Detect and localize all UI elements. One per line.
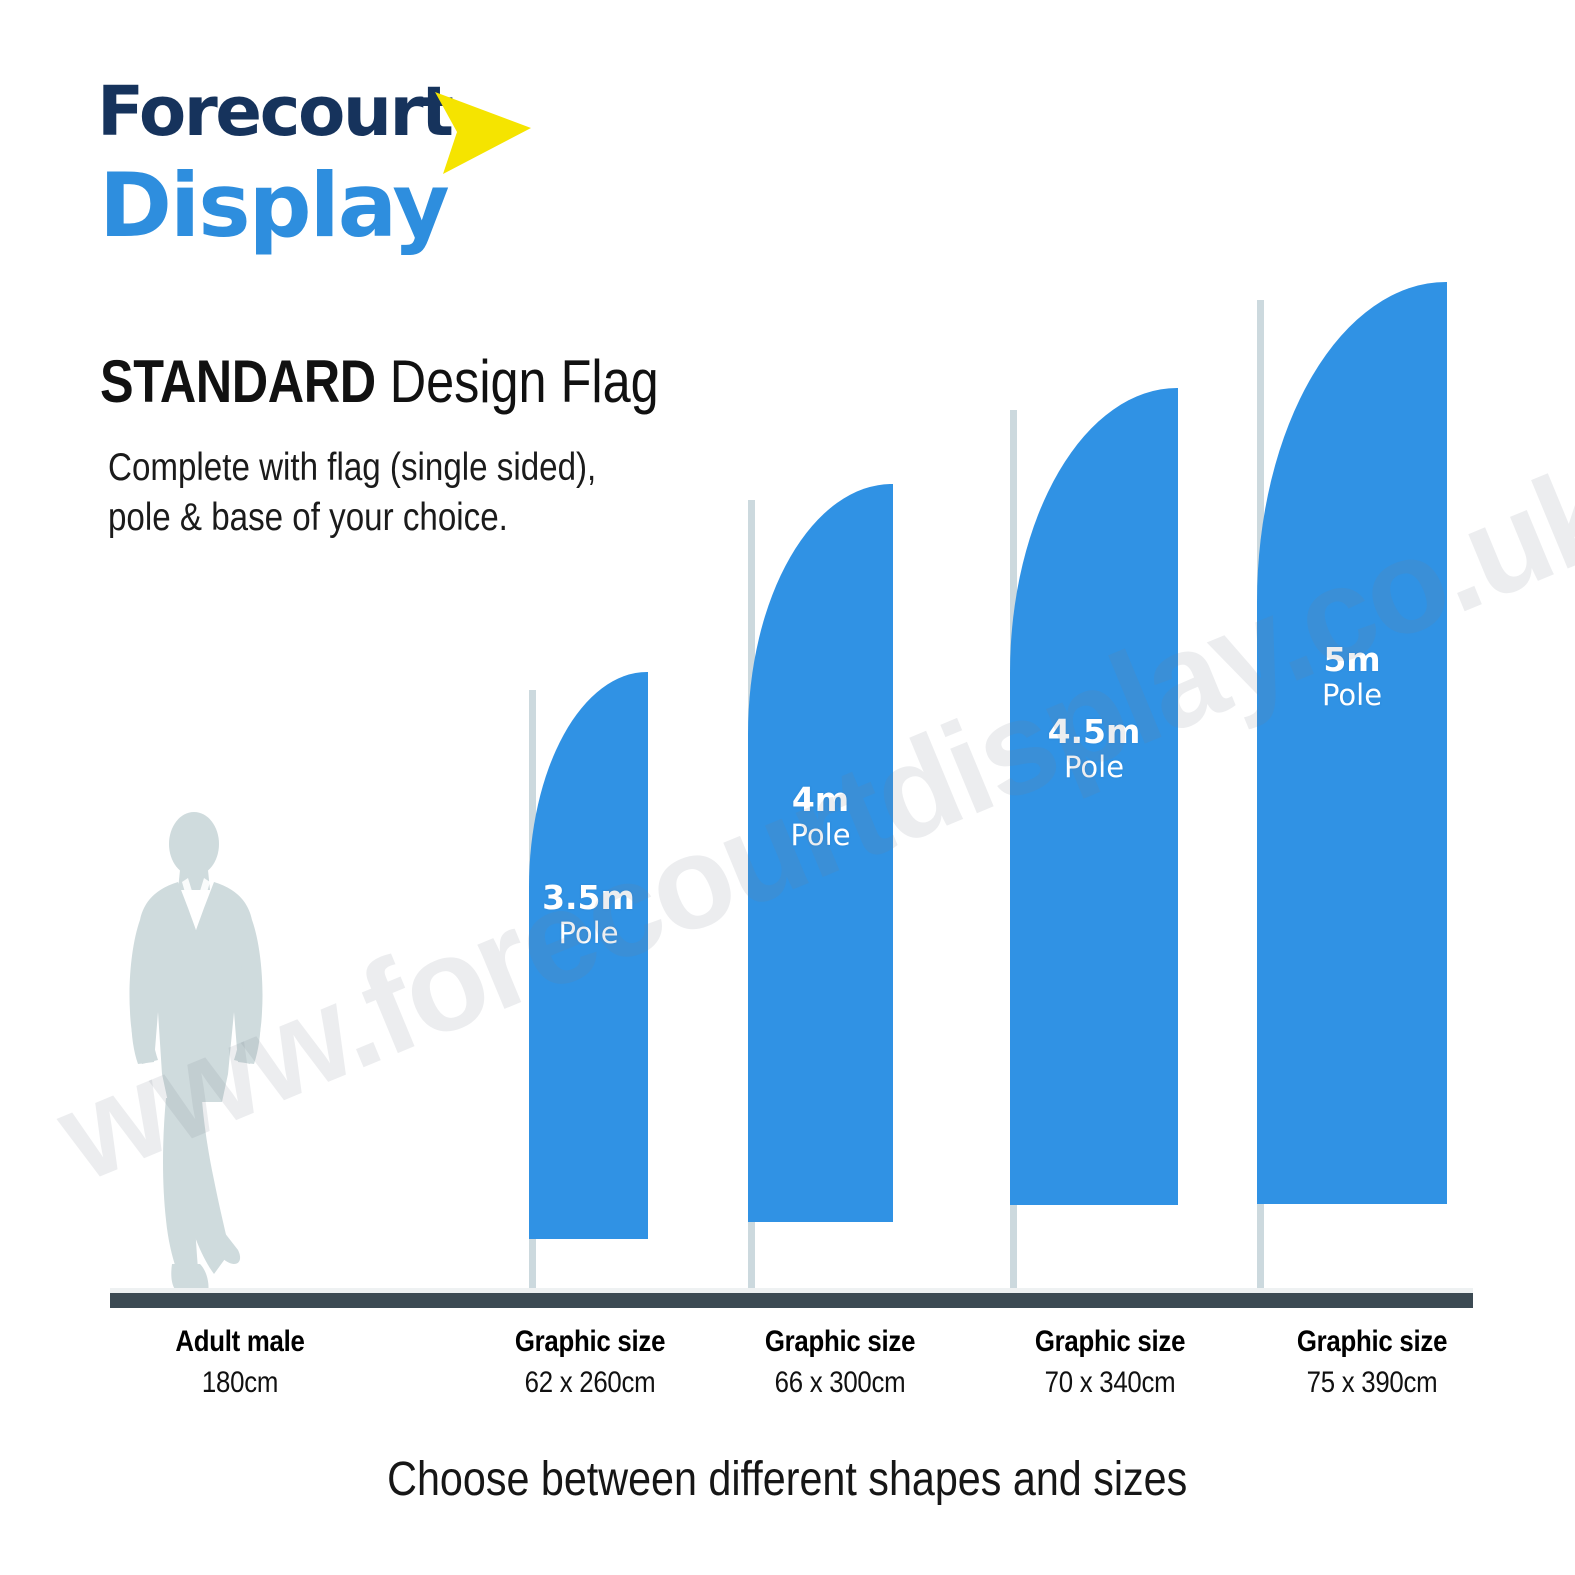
- caption-flag-4-5m: Graphic size 70 x 340cm: [960, 1322, 1260, 1403]
- footer-tagline: Choose between different shapes and size…: [0, 1452, 1575, 1507]
- flag-label-word-4m: Pole: [748, 819, 893, 851]
- flag-body-5m: [1257, 282, 1447, 1204]
- page-subtitle-line1: Complete with flag (single sided),: [108, 443, 596, 493]
- flag-label-4m: 4m Pole: [748, 782, 893, 851]
- flag-label-size-4m: 4m: [748, 782, 893, 819]
- caption-title-flag-4m: Graphic size: [711, 1322, 969, 1363]
- brand-name-line2: Display: [99, 162, 448, 250]
- page-title-bold: STANDARD: [100, 348, 376, 415]
- caption-title-flag-5m: Graphic size: [1243, 1322, 1501, 1363]
- brand-name-line1: Forecourt: [97, 78, 452, 147]
- flag-label-word-4-5m: Pole: [1010, 751, 1178, 783]
- caption-sub-adult-male: 180cm: [102, 1363, 377, 1404]
- footer-tagline-text: Choose between different shapes and size…: [387, 1452, 1187, 1507]
- caption-title-flag-3-5m: Graphic size: [461, 1322, 719, 1363]
- caption-flag-5m: Graphic size 75 x 390cm: [1222, 1322, 1522, 1403]
- page-subtitle-line2: pole & base of your choice.: [108, 493, 596, 543]
- flag-label-size-5m: 5m: [1257, 642, 1447, 679]
- flag-label-word-5m: Pole: [1257, 679, 1447, 711]
- flag-label-size-4-5m: 4.5m: [1010, 714, 1178, 751]
- flag-label-3-5m: 3.5m Pole: [529, 880, 648, 949]
- caption-sub-flag-4-5m: 70 x 340cm: [981, 1363, 1239, 1404]
- page-title: STANDARD Design Flag: [100, 352, 659, 412]
- page-title-light: Design Flag: [376, 348, 659, 415]
- caption-title-adult-male: Adult male: [102, 1322, 377, 1363]
- caption-sub-flag-5m: 75 x 390cm: [1243, 1363, 1501, 1404]
- flag-label-size-3-5m: 3.5m: [529, 880, 648, 917]
- flag-label-word-3-5m: Pole: [529, 917, 648, 949]
- caption-sub-flag-3-5m: 62 x 260cm: [461, 1363, 719, 1404]
- caption-title-flag-4-5m: Graphic size: [981, 1322, 1239, 1363]
- adult-male-silhouette-icon: [118, 812, 283, 1302]
- page-subtitle: Complete with flag (single sided), pole …: [108, 443, 596, 543]
- infographic-canvas: Forecourt Display STANDARD Design Flag C…: [0, 0, 1575, 1575]
- flag-body-4-5m: [1010, 388, 1178, 1205]
- caption-sub-flag-4m: 66 x 300cm: [711, 1363, 969, 1404]
- ground-line: [110, 1293, 1473, 1308]
- flag-label-4-5m: 4.5m Pole: [1010, 714, 1178, 783]
- caption-adult-male: Adult male 180cm: [80, 1322, 400, 1403]
- flag-body-4m: [748, 484, 893, 1222]
- caption-flag-4m: Graphic size 66 x 300cm: [690, 1322, 990, 1403]
- play-arrow-icon: [427, 88, 537, 178]
- flag-label-5m: 5m Pole: [1257, 642, 1447, 711]
- brand-logo: Forecourt Display: [97, 78, 527, 283]
- flag-body-3-5m: [529, 672, 648, 1239]
